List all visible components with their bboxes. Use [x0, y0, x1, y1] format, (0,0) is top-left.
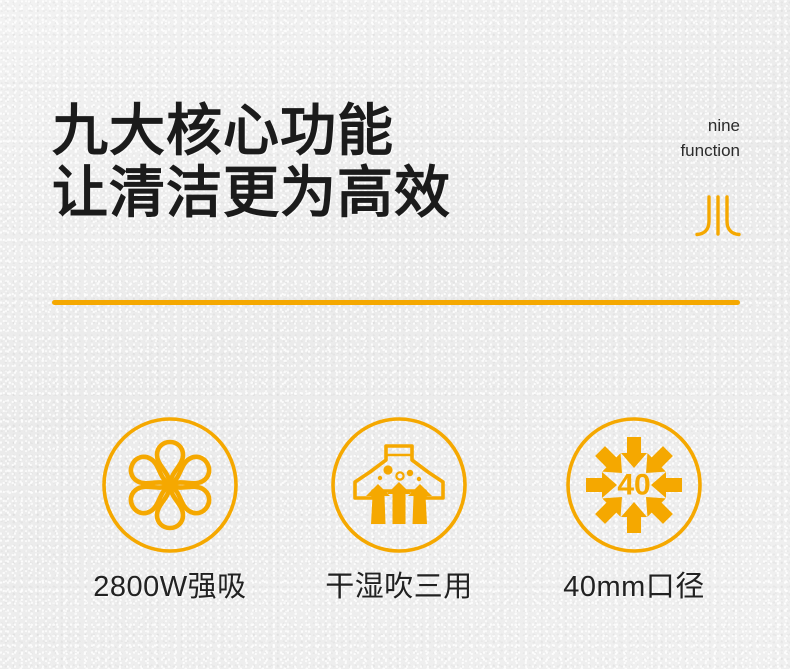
feature-label-suction-power: 2800W强吸	[54, 570, 286, 604]
promo-page: 九大核心功能 让清洁更为高效 nine function	[0, 0, 790, 669]
feature-item-nozzle-diameter[interactable]: 40 40mm口径	[518, 416, 750, 604]
headline-line-2: 让清洁更为高效	[52, 162, 451, 224]
section-divider	[52, 300, 740, 305]
eyebrow-line-1: nine	[680, 113, 740, 138]
eyebrow-text: nine function	[680, 113, 740, 163]
nozzle-diameter-value: 40	[617, 469, 650, 502]
headline-line-1: 九大核心功能	[52, 100, 451, 162]
feature-item-suction-power[interactable]: 2800W强吸	[54, 416, 286, 604]
vacuum-nozzle-arrows-icon	[330, 416, 468, 554]
three-stroke-mark-icon	[692, 193, 744, 237]
inward-arrows-40-icon: 40	[565, 416, 703, 554]
feature-label-nozzle-diameter: 40mm口径	[518, 570, 750, 604]
feature-item-wet-dry-blow[interactable]: 干湿吹三用	[283, 416, 515, 604]
feature-row: 2800W强吸	[0, 416, 790, 616]
fan-flower-icon	[101, 416, 239, 554]
eyebrow-line-2: function	[680, 138, 740, 163]
page-title: 九大核心功能 让清洁更为高效	[52, 100, 451, 224]
feature-label-wet-dry-blow: 干湿吹三用	[283, 570, 515, 604]
